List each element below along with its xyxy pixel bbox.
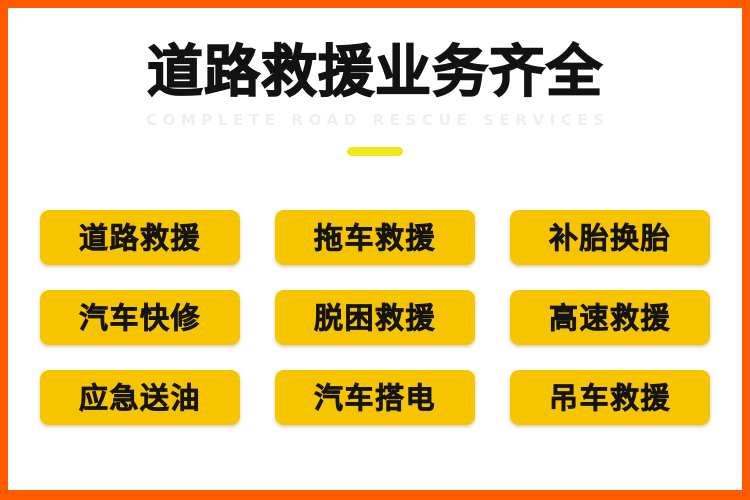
service-chip-label: 汽车搭电	[314, 382, 436, 414]
service-chip-label: 吊车救援	[549, 382, 671, 414]
service-chip-quick-auto-repair[interactable]: 汽车快修	[40, 290, 240, 345]
service-chip-label: 脱困救援	[314, 302, 436, 334]
header: 道路救援业务齐全 COMPLETE ROAD RESCUE SERVICES	[8, 42, 742, 150]
service-chip-tire-repair-change[interactable]: 补胎换胎	[510, 210, 710, 265]
page-title: 道路救援业务齐全	[8, 42, 742, 104]
service-chip-label: 道路救援	[79, 222, 201, 254]
service-chip-label: 高速救援	[549, 302, 671, 334]
page-subtitle: COMPLETE ROAD RESCUE SERVICES	[8, 111, 742, 129]
service-chip-label: 补胎换胎	[549, 222, 671, 254]
service-chip-emergency-fuel[interactable]: 应急送油	[40, 370, 240, 425]
poster-canvas: 道路救援业务齐全 COMPLETE ROAD RESCUE SERVICES 道…	[8, 8, 742, 490]
service-chip-label: 拖车救援	[314, 222, 436, 254]
service-chip-label: 汽车快修	[79, 302, 201, 334]
service-chip-highway-rescue[interactable]: 高速救援	[510, 290, 710, 345]
service-chip-tow-rescue[interactable]: 拖车救援	[275, 210, 475, 265]
service-grid: 道路救援 拖车救援 补胎换胎 汽车快修 脱困救援 高速救援 应急送油 汽车搭电	[40, 210, 710, 425]
service-chip-label: 应急送油	[79, 382, 201, 414]
service-chip-jump-start[interactable]: 汽车搭电	[275, 370, 475, 425]
service-chip-road-rescue[interactable]: 道路救援	[40, 210, 240, 265]
service-chip-extraction-rescue[interactable]: 脱困救援	[275, 290, 475, 345]
divider	[8, 141, 742, 150]
divider-bar	[347, 147, 403, 156]
service-chip-crane-rescue[interactable]: 吊车救援	[510, 370, 710, 425]
poster-frame: 道路救援业务齐全 COMPLETE ROAD RESCUE SERVICES 道…	[0, 0, 750, 500]
